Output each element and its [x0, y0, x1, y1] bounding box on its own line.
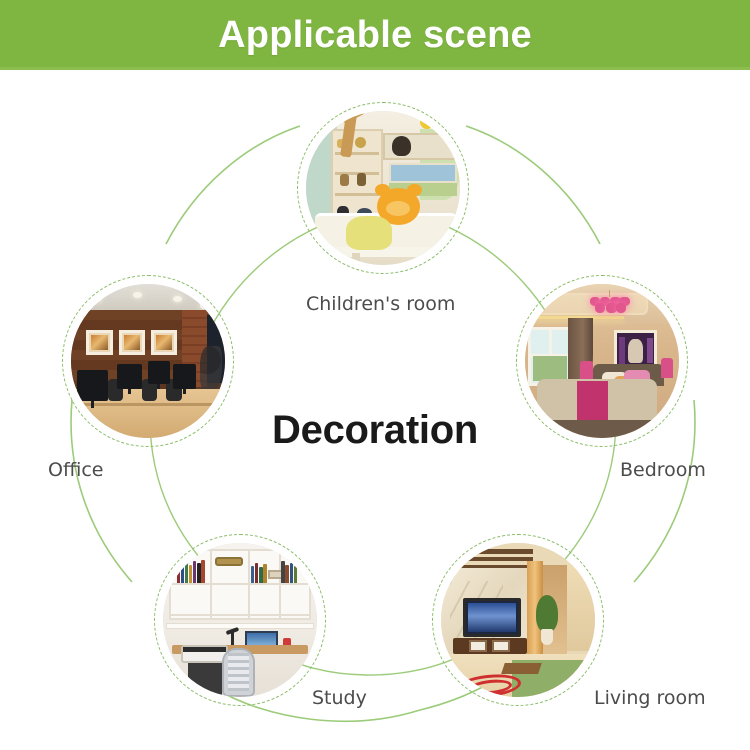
page-title: Applicable scene — [218, 16, 532, 54]
applicable-scene-infographic: Applicable scene — [0, 0, 750, 750]
scene-label-office: Office — [48, 459, 103, 481]
arc-children-office-outer — [166, 126, 300, 244]
scene-label-children: Children's room — [306, 293, 455, 315]
dashed-ring-study — [154, 534, 326, 706]
scene-label-living-room: Living room — [594, 687, 706, 709]
dashed-ring-living-room — [432, 534, 604, 706]
diagram-stage: Children's room — [0, 70, 750, 750]
scene-node-study[interactable] — [154, 534, 326, 706]
dashed-ring-children — [297, 102, 469, 274]
scene-node-living-room[interactable] — [432, 534, 604, 706]
diagram-center-label: Decoration — [0, 408, 750, 453]
scene-label-bedroom: Bedroom — [620, 459, 706, 481]
scene-label-study: Study — [312, 687, 367, 709]
arc-children-bedroom-outer — [466, 126, 600, 244]
scene-node-children[interactable] — [297, 102, 469, 274]
header-banner: Applicable scene — [0, 0, 750, 70]
